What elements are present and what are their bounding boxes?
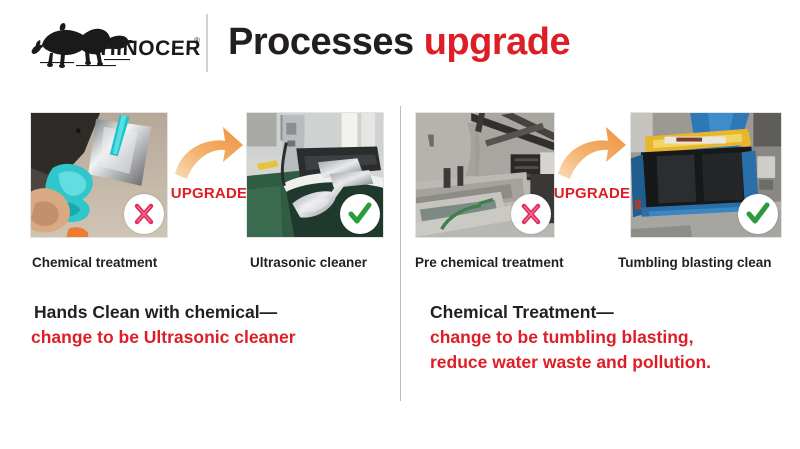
upgrade-arrow-icon xyxy=(173,122,245,184)
svg-text:®: ® xyxy=(194,36,200,45)
check-badge xyxy=(738,194,778,234)
check-icon xyxy=(744,200,772,228)
summary-right-line3: reduce water waste and pollution. xyxy=(430,350,711,375)
cross-icon xyxy=(130,200,158,228)
photo-pre-chemical-treatment[interactable] xyxy=(415,112,555,238)
summary-left-line2: change to be Ultrasonic cleaner xyxy=(31,325,296,350)
caption-row-left: Chemical treatment Ultrasonic cleaner xyxy=(30,255,385,281)
summary-left: Hands Clean with chemical— change to be … xyxy=(34,300,296,350)
upgrade-arrow-icon xyxy=(556,122,628,184)
cross-icon xyxy=(517,200,545,228)
summary-right: Chemical Treatment— change to be tumblin… xyxy=(430,300,711,375)
caption-pre-chemical-treatment: Pre chemical treatment xyxy=(415,255,564,270)
page-title: Processes upgrade xyxy=(228,15,570,69)
upgrade-indicator-right: UPGRADE xyxy=(553,122,631,202)
photo-row-left: UPGRADE xyxy=(30,112,385,244)
svg-text:RHINOCEROS: RHINOCEROS xyxy=(84,37,200,60)
rhinoceros-logo: RHINOCEROS ® xyxy=(30,17,200,71)
panel-left: UPGRADE xyxy=(30,112,385,281)
summary-left-line1: Hands Clean with chemical— xyxy=(34,300,296,325)
check-badge xyxy=(340,194,380,234)
photo-ultrasonic-cleaner[interactable] xyxy=(246,112,384,238)
rhinoceros-silhouette-icon: RHINOCEROS ® xyxy=(30,17,200,71)
panel-right: UPGRADE xyxy=(415,112,785,281)
slide-header: RHINOCEROS ® Processes upgrade xyxy=(0,0,800,88)
summary-right-line1: Chemical Treatment— xyxy=(430,300,711,325)
caption-ultrasonic-cleaner: Ultrasonic cleaner xyxy=(250,255,367,270)
summary-right-line2: change to be tumbling blasting, xyxy=(430,325,711,350)
photo-row-right: UPGRADE xyxy=(415,112,785,244)
caption-tumbling-blasting-clean: Tumbling blasting clean xyxy=(618,255,772,270)
check-icon xyxy=(346,200,374,228)
page-title-accent: upgrade xyxy=(424,21,570,63)
caption-row-right: Pre chemical treatment Tumbling blasting… xyxy=(415,255,785,281)
upgrade-label: UPGRADE xyxy=(170,185,248,202)
upgrade-label: UPGRADE xyxy=(553,185,631,202)
caption-chemical-treatment: Chemical treatment xyxy=(32,255,157,270)
cross-badge xyxy=(511,194,551,234)
upgrade-indicator-left: UPGRADE xyxy=(170,122,248,202)
photo-chemical-treatment[interactable] xyxy=(30,112,168,238)
photo-tumbling-blasting-clean[interactable] xyxy=(630,112,782,238)
page-title-main: Processes xyxy=(228,21,424,63)
cross-badge xyxy=(124,194,164,234)
header-divider xyxy=(206,14,208,72)
panel-divider xyxy=(400,106,401,401)
